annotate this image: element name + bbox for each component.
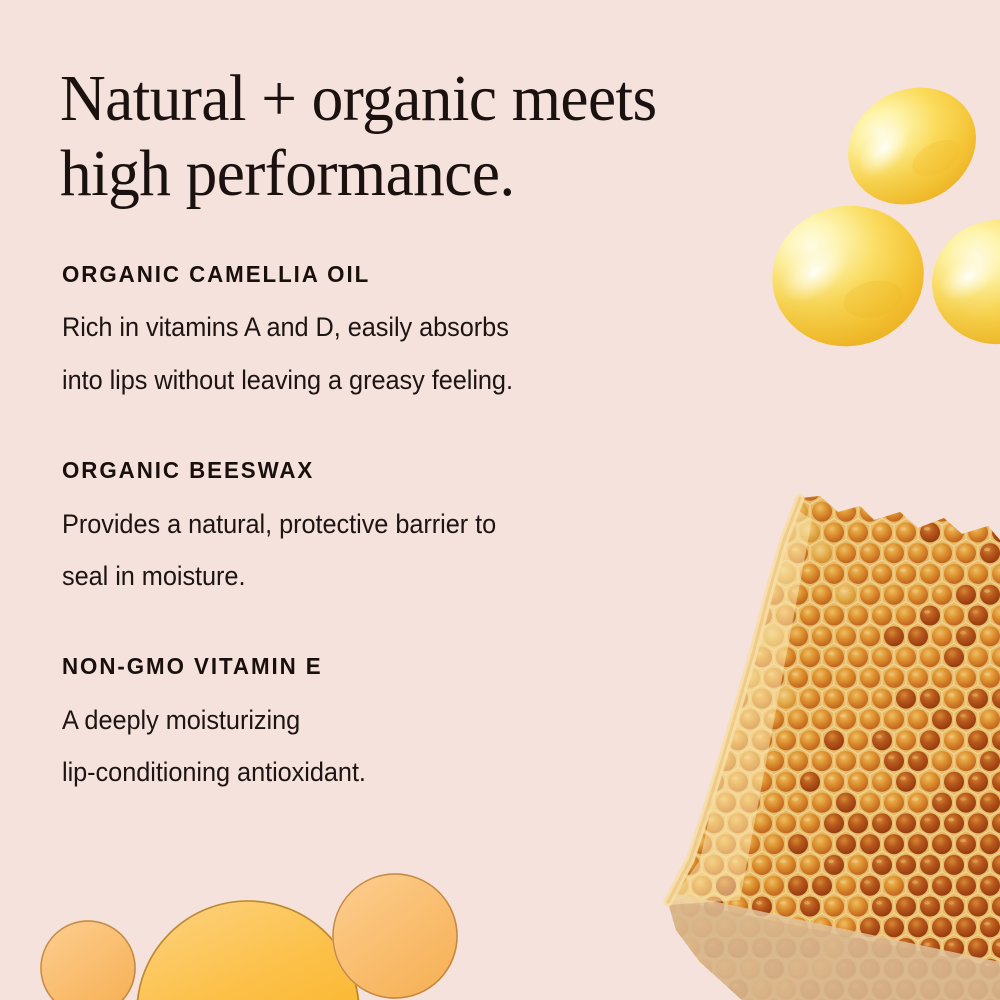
ingredient-description-line-1: A deeply moisturizing [62,705,300,735]
ingredient-description: Rich in vitamins A and D, easily absorbs… [62,301,711,406]
ingredient-description-line-2: into lips without leaving a greasy feeli… [62,365,513,395]
ingredient-list: ORGANIC CAMELLIA OIL Rich in vitamins A … [62,262,742,799]
ingredient-title: ORGANIC BEESWAX [62,458,722,483]
ingredient-description-line-2: lip-conditioning antioxidant. [62,757,366,787]
ingredient-block-camellia-oil: ORGANIC CAMELLIA OIL Rich in vitamins A … [62,262,742,406]
ingredient-title: NON-GMO VITAMIN E [62,654,722,679]
ingredient-description-line-1: Rich in vitamins A and D, easily absorbs [62,312,509,342]
ingredient-block-vitamin-e: NON-GMO VITAMIN E A deeply moisturizing … [62,654,742,798]
ingredient-description: Provides a natural, protective barrier t… [62,498,711,603]
ingredient-block-beeswax: ORGANIC BEESWAX Provides a natural, prot… [62,458,742,602]
page-title: Natural + organic meets high performance… [60,62,732,211]
ingredient-description-line-1: Provides a natural, protective barrier t… [62,509,496,539]
ingredient-description-line-2: seal in moisture. [62,561,245,591]
product-ingredients-graphic: Natural + organic meets high performance… [0,0,1000,1000]
content-layer: Natural + organic meets high performance… [0,0,1000,1000]
headline-line-2: high performance. [60,137,515,210]
ingredient-title: ORGANIC CAMELLIA OIL [62,262,722,287]
ingredient-description: A deeply moisturizing lip-conditioning a… [62,694,711,799]
headline-line-1: Natural + organic meets [60,62,657,135]
